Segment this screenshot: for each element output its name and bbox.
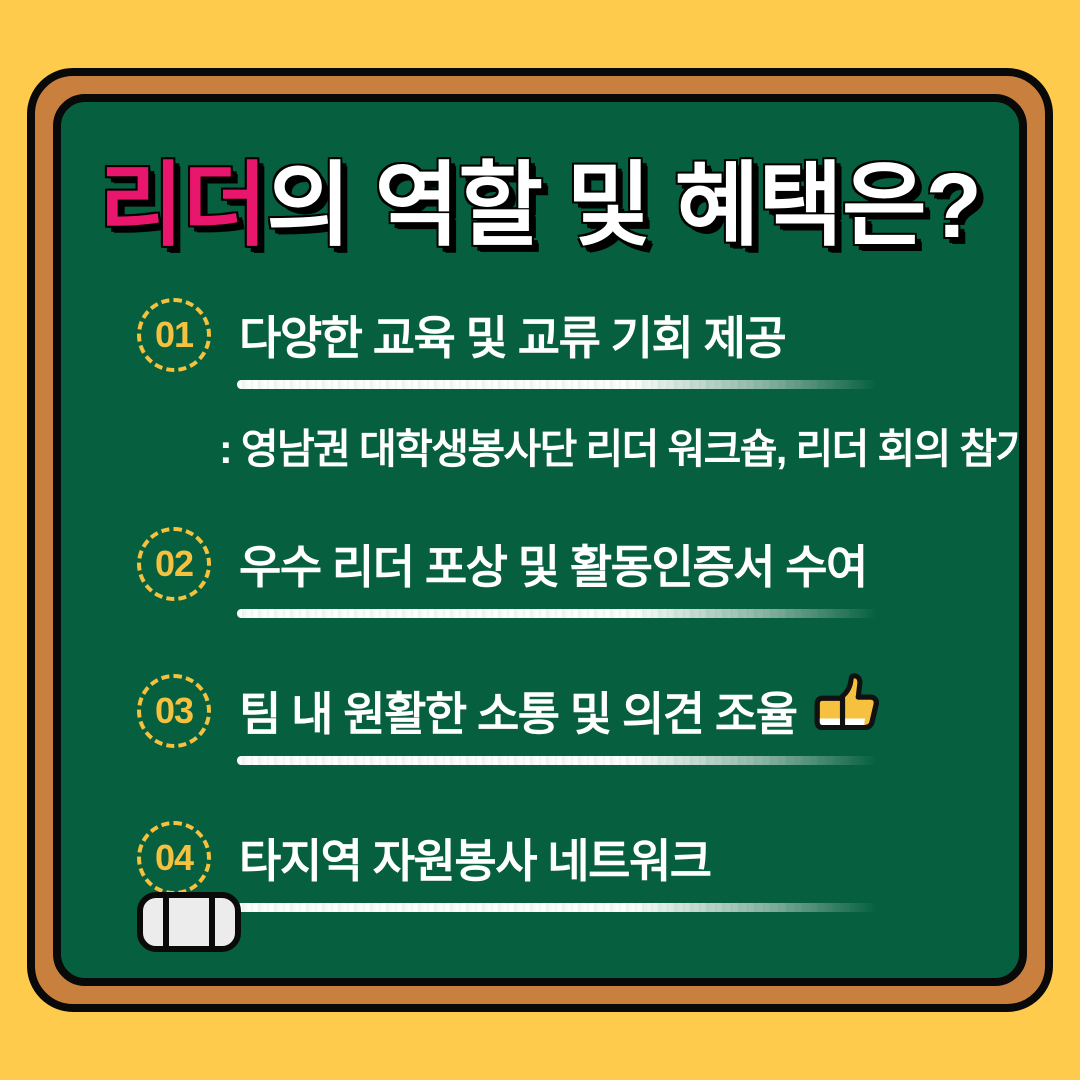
chalkboard-frame: 리더의 역할 및 혜택은? 01 다양한 교육 및 교류 기회 제공 : 영남권…: [27, 68, 1053, 1012]
list-item-row: 02 우수 리더 포상 및 활동인증서 수여: [61, 527, 1019, 601]
item-number-badge-04: 04: [137, 821, 211, 895]
page-title-accent: 리더: [99, 155, 266, 257]
list-item-02: 02 우수 리더 포상 및 활동인증서 수여: [61, 527, 1019, 618]
chalk-underline-02: [237, 609, 877, 618]
list-item-03: 03 팀 내 원활한 소통 및 의견 조율: [61, 674, 1019, 765]
chalk-underline-01: [237, 380, 877, 389]
eraser-icon: [137, 892, 241, 952]
list-item-01: 01 다양한 교육 및 교류 기회 제공 : 영남권 대학생봉사단 리더 워크숍…: [61, 298, 1019, 475]
item-label-01: 다양한 교육 및 교류 기회 제공: [239, 302, 785, 368]
item-number-badge-01: 01: [137, 298, 211, 372]
item-number-badge-03: 03: [137, 674, 211, 748]
item-label-03: 팀 내 원활한 소통 및 의견 조율: [239, 675, 883, 747]
chalk-underline-03: [237, 756, 877, 765]
item-label-text: 우수 리더 포상 및 활동인증서 수여: [239, 531, 867, 597]
list-item-row: 03 팀 내 원활한 소통 및 의견 조율: [61, 674, 1019, 748]
item-label-text: 타지역 자원봉사 네트워크: [239, 825, 711, 891]
page-title: 리더의 역할 및 혜택은?: [61, 160, 1019, 252]
chalkboard-surface: 리더의 역할 및 혜택은? 01 다양한 교육 및 교류 기회 제공 : 영남권…: [53, 94, 1027, 986]
item-subtext-01: : 영남권 대학생봉사단 리더 워크숍, 리더 회의 참가 등: [219, 415, 1019, 475]
item-number-badge-02: 02: [137, 527, 211, 601]
thumbs-up-icon: [811, 669, 883, 741]
benefits-list: 01 다양한 교육 및 교류 기회 제공 : 영남권 대학생봉사단 리더 워크숍…: [61, 298, 1019, 912]
item-label-text: 다양한 교육 및 교류 기회 제공: [239, 302, 785, 368]
item-label-04: 타지역 자원봉사 네트워크: [239, 825, 711, 891]
list-item-row: 01 다양한 교육 및 교류 기회 제공: [61, 298, 1019, 372]
item-label-02: 우수 리더 포상 및 활동인증서 수여: [239, 531, 867, 597]
chalk-underline-04: [237, 903, 877, 912]
list-item-row: 04 타지역 자원봉사 네트워크: [61, 821, 1019, 895]
item-label-text: 팀 내 원활한 소통 및 의견 조율: [239, 678, 797, 744]
page-title-plain: 의 역할 및 혜택은?: [266, 155, 980, 257]
